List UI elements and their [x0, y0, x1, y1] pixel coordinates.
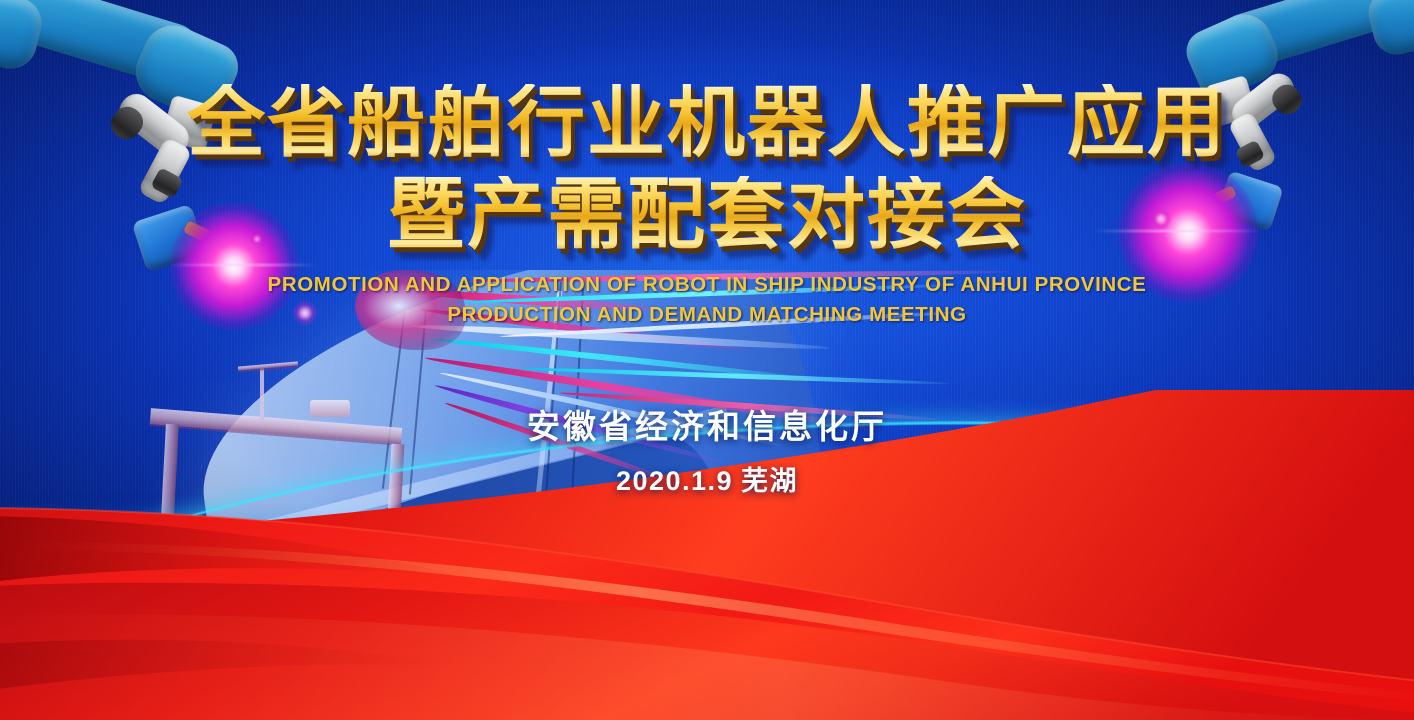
weld-spark-ray — [168, 264, 318, 266]
subtitle-en-line-1: PROMOTION AND APPLICATION OF ROBOT IN SH… — [0, 270, 1414, 300]
title-line-2: 暨产需配套对接会 — [0, 176, 1414, 254]
conference-banner: 全省船舶行业机器人推广应用 暨产需配套对接会 PROMOTION AND APP… — [0, 0, 1414, 720]
robot-shoulder — [1364, 0, 1414, 60]
banner-subtitle-block: PROMOTION AND APPLICATION OF ROBOT IN SH… — [0, 270, 1414, 329]
event-city: 芜湖 — [741, 466, 798, 497]
title-line-1: 全省船舶行业机器人推广应用 — [0, 84, 1414, 162]
organizer-name: 安徽省经济和信息化厅 — [0, 400, 1414, 448]
banner-title-block: 全省船舶行业机器人推广应用 暨产需配套对接会 — [0, 84, 1414, 254]
banner-organizer-block: 安徽省经济和信息化厅 2020.1.9芜湖 — [0, 400, 1414, 498]
event-date: 2020.1.9 — [616, 466, 733, 496]
event-date-location: 2020.1.9芜湖 — [0, 459, 1414, 498]
subtitle-en-line-2: PRODUCTION AND DEMAND MATCHING MEETING — [0, 300, 1414, 330]
